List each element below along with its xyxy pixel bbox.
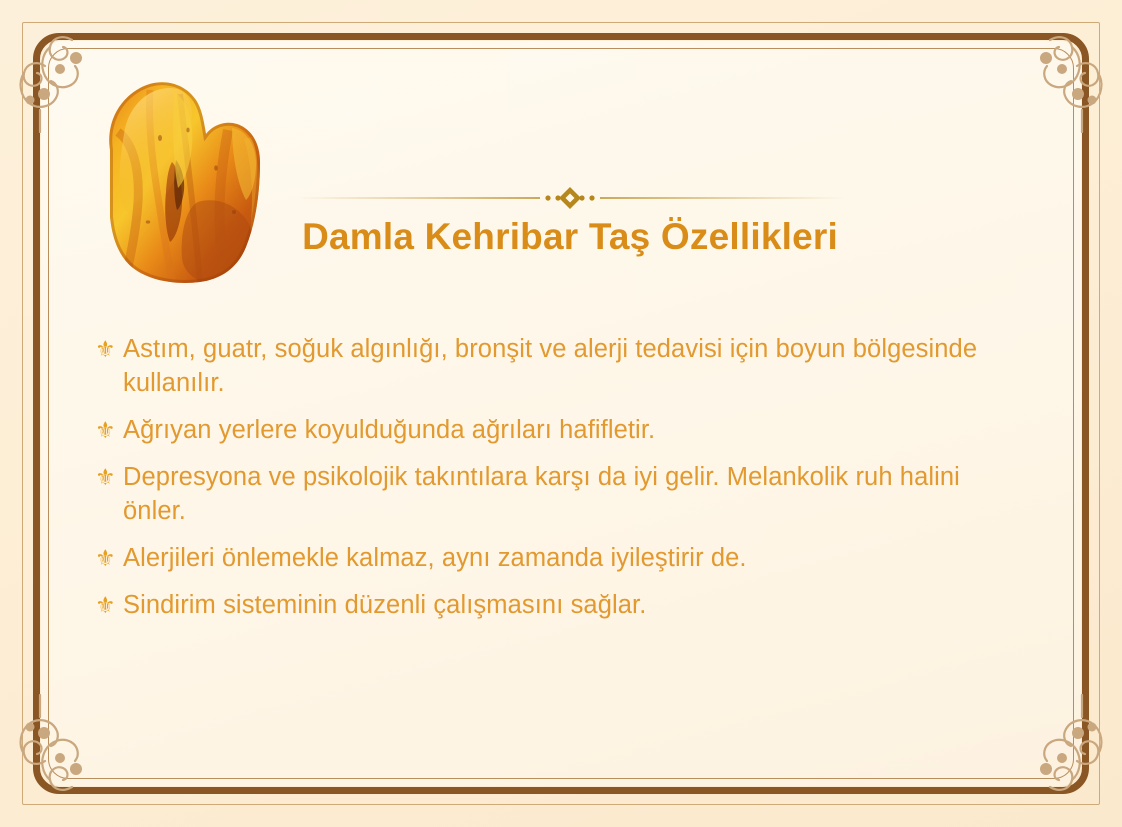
list-item-text: Astım, guatr, soğuk algınlığı, bronşit v…: [123, 332, 1025, 400]
list-item: ⚜ Alerjileri önlemekle kalmaz, aynı zama…: [95, 541, 1025, 575]
list-item: ⚜ Ağrıyan yerlere koyulduğunda ağrıları …: [95, 413, 1025, 447]
list-item: ⚜ Astım, guatr, soğuk algınlığı, bronşit…: [95, 332, 1025, 400]
fleur-de-lis-icon: ⚜: [95, 413, 123, 447]
list-item-text: Sindirim sisteminin düzenli çalışmasını …: [123, 588, 1025, 622]
fleur-de-lis-icon: ⚜: [95, 332, 123, 366]
page-title: Damla Kehribar Taş Özellikleri: [285, 216, 855, 258]
list-item-text: Alerjileri önlemekle kalmaz, aynı zamand…: [123, 541, 1025, 575]
fleur-de-lis-icon: ⚜: [95, 588, 123, 622]
amber-properties-card: Damla Kehribar Taş Özellikleri ⚜ Astım, …: [0, 0, 1122, 827]
fleur-de-lis-icon: ⚜: [95, 460, 123, 494]
features-list: ⚜ Astım, guatr, soğuk algınlığı, bronşit…: [95, 332, 1025, 635]
card-content: Damla Kehribar Taş Özellikleri ⚜ Astım, …: [0, 0, 1122, 827]
fleur-de-lis-icon: ⚜: [95, 541, 123, 575]
list-item-text: Depresyona ve psikolojik takıntılara kar…: [123, 460, 1025, 528]
list-item-text: Ağrıyan yerlere koyulduğunda ağrıları ha…: [123, 413, 1025, 447]
amber-stone-image: [88, 72, 280, 287]
list-item: ⚜ Sindirim sisteminin düzenli çalışmasın…: [95, 588, 1025, 622]
list-item: ⚜ Depresyona ve psikolojik takıntılara k…: [95, 460, 1025, 528]
heading-block: Damla Kehribar Taş Özellikleri: [285, 186, 855, 258]
decorative-divider-icon: [285, 186, 855, 210]
